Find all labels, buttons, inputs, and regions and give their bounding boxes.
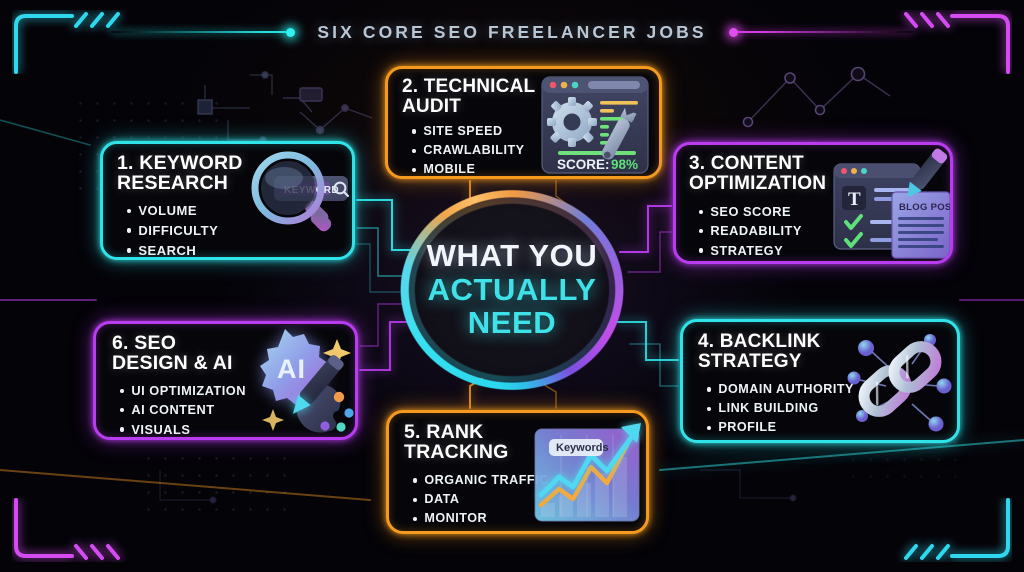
card-bullets-2: SITE SPEED CRAWLABILITY MOBILE	[412, 122, 525, 179]
header-line-right	[738, 31, 913, 33]
list-item: PROFILE	[707, 418, 854, 437]
audit-score-label: SCORE:	[557, 157, 610, 172]
card-bullets-3: SEO SCORE READABILITY STRATEGY	[699, 202, 802, 260]
card-title-1: 1. KEYWORD RESEARCH	[117, 153, 243, 193]
document-pen-checklist-icon: T BLOG POST	[828, 144, 953, 264]
ai-badge-label: AI	[277, 354, 306, 384]
card-keyword-research[interactable]: 1. KEYWORD RESEARCH VOLUME DIFFICULTY SE…	[100, 141, 355, 260]
header-node-dot-left	[286, 28, 295, 37]
list-item: SEO SCORE	[699, 202, 802, 221]
header-node-dot-right	[729, 28, 738, 37]
card-seo-design-ai[interactable]: 6. SEO DESIGN & AI UI OPTIMIZATION AI CO…	[93, 321, 358, 440]
list-item: VOLUME	[127, 201, 218, 221]
hub-line-2: ACTUALLY	[428, 274, 597, 307]
list-item: DATA	[413, 490, 549, 509]
infographic-canvas: SIX CORE SEO FREELANCER JOBS WHAT YOU AC…	[0, 0, 1024, 572]
card-bullets-4: DOMAIN AUTHORITY LINK BUILDING PROFILE	[707, 380, 854, 437]
card-title-3: 3. CONTENT OPTIMIZATION	[689, 154, 826, 193]
list-item: ORGANIC TRAFFIC	[413, 471, 549, 490]
magnifying-glass-icon: KEYWORD	[244, 150, 355, 256]
card-technical-audit[interactable]: 2. TECHNICAL AUDIT SITE SPEED CRAWLABILI…	[385, 66, 662, 179]
list-item: SEARCH	[127, 241, 218, 261]
card-title-6: 6. SEO DESIGN & AI	[112, 333, 233, 373]
ai-badge-palette-pen-icon: AI	[241, 325, 358, 440]
list-item: UI OPTIMIZATION	[120, 381, 246, 400]
card-bullets-1: VOLUME DIFFICULTY SEARCH	[127, 201, 218, 260]
list-item: DOMAIN AUTHORITY	[707, 380, 854, 399]
background-dot-grid-bottom-left	[140, 450, 300, 525]
corner-bracket-bottom-right	[892, 498, 1012, 562]
list-item: LINK BUILDING	[707, 399, 854, 418]
list-item: VISUALS	[120, 420, 246, 439]
page-title: SIX CORE SEO FREELANCER JOBS	[295, 22, 728, 43]
hub-line-3: NEED	[468, 307, 557, 340]
audit-score-value: 98%	[611, 157, 638, 172]
hub-line-1: WHAT YOU	[427, 240, 598, 273]
blog-post-label: BLOG POST	[899, 202, 953, 213]
svg-text:KEYWORD: KEYWORD	[284, 185, 339, 196]
card-rank-tracking[interactable]: 5. RANK TRACKING ORGANIC TRAFFIC DATA MO…	[386, 410, 649, 534]
text-tool-letter: T	[848, 189, 861, 210]
card-bullets-6: UI OPTIMIZATION AI CONTENT VISUALS	[120, 381, 246, 439]
card-backlink-strategy[interactable]: 4. BACKLINK STRATEGY DOMAIN AUTHORITY LI…	[680, 319, 960, 443]
card-title-4: 4. BACKLINK STRATEGY	[698, 332, 821, 371]
list-item: AI CONTENT	[120, 400, 246, 419]
list-item: MONITOR	[413, 509, 549, 528]
center-hub: WHAT YOU ACTUALLY NEED	[396, 186, 628, 394]
chain-link-network-icon	[838, 324, 960, 442]
list-item: SITE SPEED	[412, 122, 525, 141]
corner-bracket-bottom-left	[12, 498, 132, 562]
card-title-5: 5. RANK TRACKING	[404, 422, 509, 462]
list-item: READABILITY	[699, 221, 802, 240]
list-item: CRAWLABILITY	[412, 141, 525, 160]
list-item: STRATEGY	[699, 241, 802, 260]
card-bullets-5: ORGANIC TRAFFIC DATA MONITOR	[413, 471, 549, 528]
keywords-chip-label: Keywords	[556, 442, 609, 454]
card-content-optimization[interactable]: 3. CONTENT OPTIMIZATION SEO SCORE READAB…	[673, 142, 953, 264]
card-title-2: 2. TECHNICAL AUDIT	[402, 77, 535, 116]
list-item: MOBILE	[412, 160, 525, 179]
hub-text-block: WHAT YOU ACTUALLY NEED	[396, 186, 628, 394]
header-line-left	[111, 31, 286, 33]
gear-wrench-browser-icon: SCORE: 98%	[536, 72, 661, 178]
header-bar: SIX CORE SEO FREELANCER JOBS	[0, 18, 1024, 46]
list-item: DIFFICULTY	[127, 221, 218, 241]
